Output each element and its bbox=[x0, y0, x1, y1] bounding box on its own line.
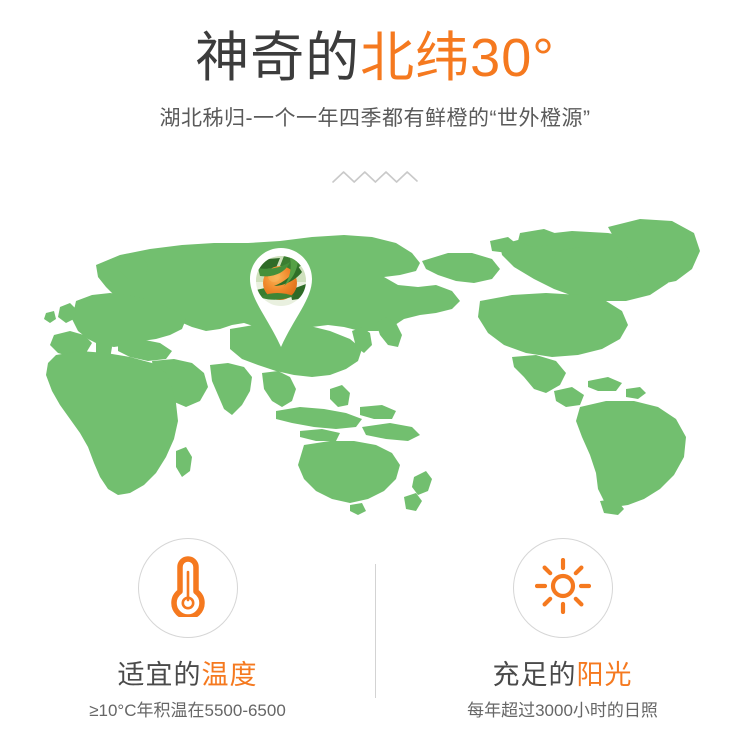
product-detail-banner: 神奇的北纬30° 湖北秭归-一个一年四季都有鲜橙的“世外橙源” bbox=[0, 0, 750, 730]
zigzag-wave-divider bbox=[332, 168, 418, 190]
map-pin-marker[interactable] bbox=[246, 246, 316, 350]
sun-icon bbox=[535, 558, 591, 619]
feature-sunlight: 充足的阳光 每年超过3000小时的日照 bbox=[375, 530, 750, 723]
feature-title-sunlight: 充足的阳光 bbox=[493, 638, 633, 692]
page-title-accent: 北纬30° bbox=[360, 28, 555, 88]
pin-orange-photo bbox=[256, 256, 306, 306]
feature-title-accent: 温度 bbox=[202, 660, 258, 690]
feature-vertical-divider bbox=[375, 564, 376, 698]
page-title: 神奇的北纬30° bbox=[0, 0, 750, 88]
sun-icon-circle bbox=[513, 538, 613, 638]
world-map bbox=[0, 205, 750, 515]
feature-desc-temperature: ≥10°C年积温在5500-6500 bbox=[89, 692, 286, 723]
thermometer-icon-circle bbox=[138, 538, 238, 638]
header-block: 神奇的北纬30° 湖北秭归-一个一年四季都有鲜橙的“世外橙源” bbox=[0, 0, 750, 134]
page-subtitle: 湖北秭归-一个一年四季都有鲜橙的“世外橙源” bbox=[0, 88, 750, 134]
feature-title-plain: 充足的 bbox=[493, 660, 577, 690]
feature-title-plain: 适宜的 bbox=[118, 660, 202, 690]
feature-row: 适宜的温度 ≥10°C年积温在5500-6500 bbox=[0, 530, 750, 730]
feature-title-accent: 阳光 bbox=[577, 660, 633, 690]
thermometer-icon bbox=[166, 555, 210, 622]
feature-title-temperature: 适宜的温度 bbox=[118, 638, 258, 692]
feature-desc-sunlight: 每年超过3000小时的日照 bbox=[467, 692, 658, 723]
page-title-plain: 神奇的 bbox=[195, 28, 360, 88]
map-landmass-group bbox=[44, 219, 700, 515]
feature-temperature: 适宜的温度 ≥10°C年积温在5500-6500 bbox=[0, 530, 375, 723]
